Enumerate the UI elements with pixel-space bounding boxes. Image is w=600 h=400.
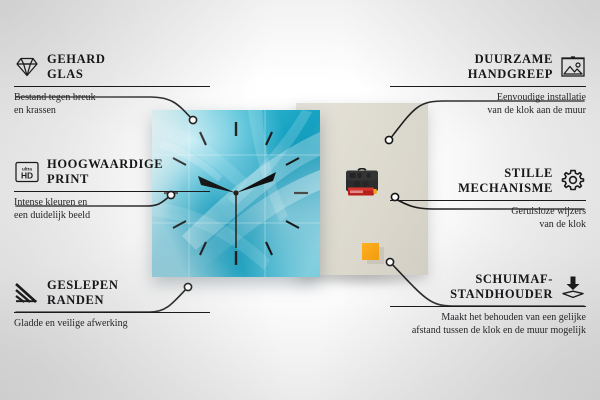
feature-duurzame-handgreep: DUURZAME HANDGREEP Eenvoudige installati… xyxy=(390,52,586,117)
feature-hoogwaardige-print: ultra HD HOOGWAARDIGE PRINT Intense kleu… xyxy=(14,157,210,222)
feature-description: Geruisloze wijzers van de klok xyxy=(390,205,586,231)
feature-title: GESLEPEN RANDEN xyxy=(47,278,119,309)
clock-mechanism xyxy=(345,168,379,200)
feature-title: DUURZAME HANDGREEP xyxy=(468,52,553,83)
divider xyxy=(390,200,586,201)
feature-header: GEHARD GLAS xyxy=(14,52,210,83)
feature-description: Intense kleuren en een duidelijk beeld xyxy=(14,196,210,222)
foam-spacer xyxy=(362,243,379,260)
beveled-edges-icon xyxy=(14,280,40,306)
feature-header: ultra HD HOOGWAARDIGE PRINT xyxy=(14,157,210,188)
feature-gehard-glas: GEHARD GLAS Bestand tegen breuk en krass… xyxy=(14,52,210,117)
svg-text:HD: HD xyxy=(21,171,33,181)
feature-geslepen-randen: GESLEPEN RANDEN Gladde en veilige afwerk… xyxy=(14,278,210,330)
download-tray-icon xyxy=(560,274,586,300)
divider xyxy=(390,306,586,307)
feature-title: STILLE MECHANISME xyxy=(458,166,553,197)
feature-header: STILLE MECHANISME xyxy=(390,166,586,197)
diamond-icon xyxy=(14,54,40,80)
feature-header: DUURZAME HANDGREEP xyxy=(390,52,586,83)
feature-description: Maakt het behouden van een gelijke afsta… xyxy=(390,311,586,337)
feature-description: Eenvoudige installatie van de klok aan d… xyxy=(390,91,586,117)
feature-description: Gladde en veilige afwerking xyxy=(14,317,210,330)
feature-schuimaf-standhouder: SCHUIMAF- STANDHOUDER Maakt het behouden… xyxy=(390,272,586,337)
feature-header: GESLEPEN RANDEN xyxy=(14,278,210,309)
feature-stille-mechanisme: STILLE MECHANISME Geruisloze wijzers van… xyxy=(390,166,586,231)
divider xyxy=(390,86,586,87)
feature-title: HOOGWAARDIGE PRINT xyxy=(47,157,163,188)
divider xyxy=(14,312,210,313)
ultra-hd-icon: ultra HD xyxy=(14,159,40,185)
picture-frame-icon xyxy=(560,54,586,80)
feature-title: GEHARD GLAS xyxy=(47,52,105,83)
feature-header: SCHUIMAF- STANDHOUDER xyxy=(390,272,586,303)
feature-description: Bestand tegen breuk en krassen xyxy=(14,91,210,117)
divider xyxy=(14,191,210,192)
infographic-canvas: GEHARD GLAS Bestand tegen breuk en krass… xyxy=(0,0,600,400)
gear-icon xyxy=(560,168,586,194)
divider xyxy=(14,86,210,87)
feature-title: SCHUIMAF- STANDHOUDER xyxy=(450,272,553,303)
